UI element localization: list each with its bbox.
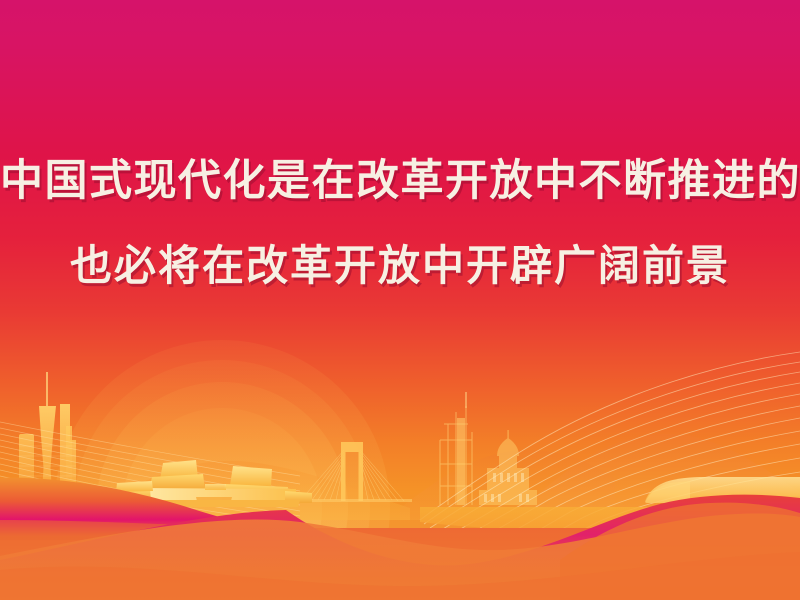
foreground-waves-layer xyxy=(0,0,800,600)
poster-canvas: 中国式现代化是在改革开放中不断推进的 也必将在改革开放中开辟广阔前景 xyxy=(0,0,800,600)
